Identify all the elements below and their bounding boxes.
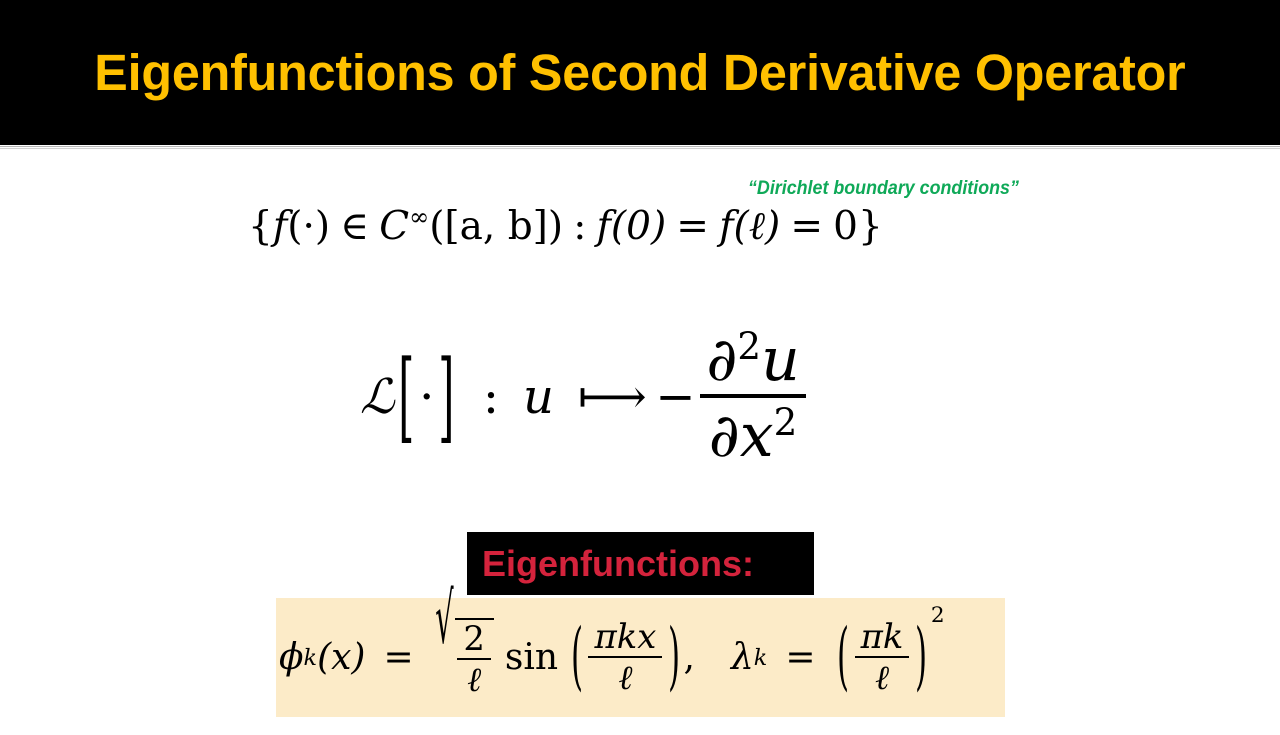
dirichlet-annotation: “Dirichlet boundary conditions” — [748, 178, 1019, 200]
eigenfunctions-label-box: Eigenfunctions: — [467, 532, 814, 595]
eigenfunction-formula: ϕk(x)= √ 2 ℓ sin( πkx ℓ ),λk=( πk ℓ )2 — [276, 598, 1036, 717]
eigenvalue-numerator: πk — [855, 619, 910, 658]
partial-symbol-numerator: ∂ — [706, 325, 737, 395]
denominator-x: x — [740, 401, 774, 471]
interval-domain: ([a, b]) — [429, 204, 563, 249]
sine-paren-open: ( — [571, 615, 583, 699]
sine-paren-close: ) — [668, 615, 680, 699]
function-space-formula: {f(·)∈C∞([a, b]):f(0)=f(ℓ)=0} — [248, 205, 883, 248]
eigenvalue-paren-open: ( — [837, 615, 849, 699]
open-brace: { — [248, 204, 273, 249]
second-derivative-fraction: ∂2u ∂x2 — [700, 328, 805, 466]
lambda-equals: = — [785, 637, 815, 678]
lambda-symbol: λ — [731, 637, 754, 678]
slide-content: “Dirichlet boundary conditions” {f(·)∈C∞… — [0, 150, 1280, 717]
lambda-index-k: k — [754, 645, 768, 671]
eigenfunctions-label-text: Eigenfunctions: — [482, 546, 754, 582]
close-brace: } — [858, 204, 883, 249]
eigenvalue-exponent: 2 — [931, 603, 945, 628]
slide-header: Eigenfunctions of Second Derivative Oper… — [0, 0, 1280, 145]
denominator-exponent: 2 — [774, 400, 798, 444]
numerator-u: u — [761, 325, 800, 395]
radicand-numerator: 2 — [457, 621, 491, 660]
phi-index-k: k — [304, 645, 318, 671]
zero-value: 0 — [833, 204, 858, 249]
partial-symbol-denominator: ∂ — [709, 401, 740, 471]
open-paren: ( — [287, 204, 302, 249]
minus-sign: − — [655, 373, 695, 421]
operator-definition-formula: ℒ[·]:u⟼− ∂2u ∂x2 — [360, 328, 806, 466]
infinity-exponent: ∞ — [409, 203, 429, 231]
separator-comma: , — [684, 637, 695, 678]
boundary-value-f0: f(0) — [596, 204, 666, 249]
set-colon: : — [573, 204, 586, 249]
bracket-open: [ — [399, 348, 415, 446]
sine-argument-fraction: πkx ℓ — [588, 619, 662, 695]
close-paren: ) — [315, 204, 330, 249]
radical-icon: √ — [436, 580, 454, 735]
eigenvalue-denominator: ℓ — [869, 658, 895, 696]
two-over-ell-fraction: 2 ℓ — [457, 621, 491, 697]
phi-equals: = — [383, 637, 413, 678]
operator-cdot: · — [419, 373, 434, 421]
mapsto-arrow: ⟼ — [578, 373, 647, 421]
input-function-u: u — [523, 373, 554, 421]
cdot-placeholder: · — [302, 204, 314, 249]
element-of-symbol: ∈ — [340, 204, 369, 249]
eigenvalue-paren-close: ) — [915, 615, 927, 699]
radicand: 2 ℓ — [455, 618, 494, 697]
square-root-group: √ 2 ℓ — [433, 618, 493, 697]
phi-symbol: ϕ — [279, 637, 304, 678]
smoothness-class-C: C — [379, 204, 409, 249]
sine-arg-denominator: ℓ — [612, 658, 638, 696]
fraction-denominator: ∂x2 — [703, 398, 804, 466]
page-title: Eigenfunctions of Second Derivative Oper… — [94, 47, 1185, 98]
boundary-value-f-ell: f(ℓ) — [719, 204, 780, 249]
sine-function: sin — [505, 637, 558, 678]
bracket-close: ] — [439, 348, 455, 446]
radicand-denominator: ℓ — [461, 660, 487, 698]
eigenvalue-fraction: πk ℓ — [855, 619, 910, 695]
numerator-exponent: 2 — [737, 324, 761, 368]
equals-1: = — [676, 204, 709, 249]
phi-argument-x: (x) — [317, 637, 365, 678]
function-symbol-f: f — [273, 204, 287, 249]
operator-colon: : — [483, 373, 499, 421]
equals-2: = — [790, 204, 823, 249]
sine-arg-numerator: πkx — [588, 619, 662, 658]
fraction-numerator: ∂2u — [700, 328, 805, 398]
operator-symbol-L: ℒ — [360, 373, 395, 421]
eigenfunction-formula-panel: ϕk(x)= √ 2 ℓ sin( πkx ℓ ),λk=( πk ℓ )2 — [276, 598, 1005, 717]
